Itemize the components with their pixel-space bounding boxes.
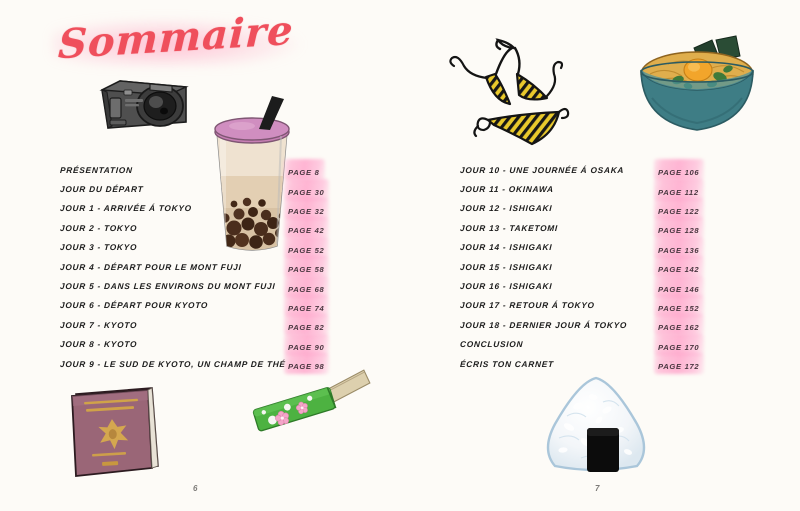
toc-page-badge: PAGE 42 [288, 218, 324, 237]
toc-page-label: PAGE 98 [288, 362, 324, 371]
toc-entry-label: JOUR 15 - ISHIGAKI [460, 262, 553, 272]
toc-page-label: PAGE 112 [658, 188, 699, 197]
toc-page-badge: PAGE 170 [658, 335, 699, 354]
toc-entry-label: PRÉSENTATION [60, 165, 133, 175]
toc-page-badge: PAGE 98 [288, 354, 324, 373]
toc-entry-label: JOUR 11 - OKINAWA [460, 184, 554, 194]
toc-entry-label: CONCLUSION [460, 339, 524, 349]
passport-illustration [62, 382, 168, 480]
toc-page-label: PAGE 74 [288, 304, 324, 313]
toc-page-label: PAGE 128 [658, 226, 699, 235]
toc-page-badge: PAGE 112 [658, 180, 699, 199]
toc-page-badge: PAGE 136 [658, 238, 699, 257]
toc-page-badge: PAGE 106 [658, 160, 699, 179]
onigiri-illustration [533, 372, 659, 482]
toc-row[interactable]: JOUR 2 - TOKYO PAGE 42 [60, 218, 360, 237]
toc-entry-label: JOUR 8 - KYOTO [60, 339, 138, 349]
toc-row[interactable]: JOUR 7 - KYOTO PAGE 82 [60, 315, 360, 334]
toc-page-label: PAGE 30 [288, 188, 324, 197]
toc-page-badge: PAGE 152 [658, 296, 699, 315]
toc-page-badge: PAGE 172 [658, 354, 699, 373]
toc-row[interactable]: JOUR DU DÉPART PAGE 30 [60, 179, 360, 198]
toc-entry-label: JOUR 9 - LE SUD DE KYOTO, UN CHAMP DE TH… [60, 359, 286, 369]
toc-entry-label: JOUR 5 - DANS LES ENVIRONS DU MONT FUJI [60, 281, 276, 291]
toc-row[interactable]: JOUR 15 - ISHIGAKI PAGE 142 [460, 257, 760, 276]
toc-page-label: PAGE 32 [288, 207, 324, 216]
toc-left-column: PRÉSENTATION PAGE 8 JOUR DU DÉPART PAGE … [60, 160, 360, 373]
toc-page-badge: PAGE 8 [288, 160, 320, 179]
toc-row[interactable]: JOUR 14 - ISHIGAKI PAGE 136 [460, 238, 760, 257]
toc-page-badge: PAGE 142 [658, 257, 699, 276]
toc-entry-label: JOUR 2 - TOKYO [60, 223, 138, 233]
toc-page-label: PAGE 106 [658, 168, 699, 177]
toc-row[interactable]: JOUR 17 - RETOUR Á TOKYO PAGE 152 [460, 296, 760, 315]
toc-entry-label: JOUR 10 - UNE JOURNÉE Á OSAKA [460, 165, 625, 175]
toc-page-badge: PAGE 162 [658, 315, 699, 334]
toc-page-label: PAGE 8 [288, 168, 320, 177]
toc-page-badge: PAGE 74 [288, 296, 324, 315]
toc-right-column: JOUR 10 - UNE JOURNÉE Á OSAKA PAGE 106 J… [460, 160, 760, 373]
toc-page-label: PAGE 90 [288, 343, 324, 352]
toc-entry-label: JOUR 7 - KYOTO [60, 320, 138, 330]
toc-row[interactable]: ÉCRIS TON CARNET PAGE 172 [460, 354, 760, 373]
toc-page-badge: PAGE 82 [288, 315, 324, 334]
toc-row[interactable]: JOUR 12 - ISHIGAKI PAGE 122 [460, 199, 760, 218]
toc-row[interactable]: JOUR 1 - ARRIVÉE Á TOKYO PAGE 32 [60, 199, 360, 218]
toc-page-badge: PAGE 32 [288, 199, 324, 218]
toc-entry-label: JOUR 1 - ARRIVÉE Á TOKYO [60, 203, 192, 213]
ramen-bowl-illustration [628, 26, 766, 138]
toc-page-label: PAGE 58 [288, 265, 324, 274]
toc-row[interactable]: JOUR 8 - KYOTO PAGE 90 [60, 335, 360, 354]
toc-page-label: PAGE 172 [658, 362, 699, 371]
toc-page-badge: PAGE 30 [288, 180, 324, 199]
toc-entry-label: JOUR 17 - RETOUR Á TOKYO [460, 300, 595, 310]
toc-page-label: PAGE 68 [288, 285, 324, 294]
toc-row[interactable]: JOUR 9 - LE SUD DE KYOTO, UN CHAMP DE TH… [60, 354, 360, 373]
toc-row[interactable]: JOUR 11 - OKINAWA PAGE 112 [460, 179, 760, 198]
toc-page-badge: PAGE 128 [658, 218, 699, 237]
toc-page-badge: PAGE 122 [658, 199, 699, 218]
toc-entry-label: JOUR DU DÉPART [60, 184, 144, 194]
toc-page-label: PAGE 136 [658, 246, 699, 255]
bikini-illustration [422, 22, 574, 150]
toc-page-badge: PAGE 52 [288, 238, 324, 257]
toc-entry-label: JOUR 14 - ISHIGAKI [460, 242, 553, 252]
toc-entry-label: ÉCRIS TON CARNET [460, 359, 554, 369]
page-title-group: Sommaire [58, 14, 318, 70]
toc-entry-label: JOUR 18 - DERNIER JOUR Á TOKYO [460, 320, 628, 330]
toc-row[interactable]: JOUR 6 - DÉPART POUR KYOTO PAGE 74 [60, 296, 360, 315]
chopsticks-illustration [246, 366, 386, 458]
folio-left: 6 [193, 484, 197, 493]
toc-entry-label: JOUR 6 - DÉPART POUR KYOTO [60, 300, 209, 310]
toc-page-label: PAGE 142 [658, 265, 699, 274]
toc-row[interactable]: JOUR 5 - DANS LES ENVIRONS DU MONT FUJI … [60, 276, 360, 295]
toc-row[interactable]: JOUR 13 - TAKETOMI PAGE 128 [460, 218, 760, 237]
toc-page-label: PAGE 122 [658, 207, 699, 216]
toc-entry-label: JOUR 13 - TAKETOMI [460, 223, 559, 233]
toc-row[interactable]: JOUR 10 - UNE JOURNÉE Á OSAKA PAGE 106 [460, 160, 760, 179]
toc-page-label: PAGE 162 [658, 323, 699, 332]
toc-entry-label: JOUR 12 - ISHIGAKI [460, 203, 553, 213]
toc-page-label: PAGE 42 [288, 226, 324, 235]
toc-row[interactable]: JOUR 3 - TOKYO PAGE 52 [60, 238, 360, 257]
toc-row[interactable]: JOUR 16 - ISHIGAKI PAGE 146 [460, 276, 760, 295]
toc-page-badge: PAGE 90 [288, 335, 324, 354]
toc-entry-label: JOUR 3 - TOKYO [60, 242, 138, 252]
toc-row[interactable]: JOUR 4 - DÉPART POUR LE MONT FUJI PAGE 5… [60, 257, 360, 276]
toc-page-label: PAGE 170 [658, 343, 699, 352]
toc-page-label: PAGE 146 [658, 285, 699, 294]
toc-page-label: PAGE 82 [288, 323, 324, 332]
toc-row[interactable]: CONCLUSION PAGE 170 [460, 335, 760, 354]
toc-page-badge: PAGE 58 [288, 257, 324, 276]
camera-illustration [98, 68, 194, 134]
folio-right: 7 [595, 484, 599, 493]
toc-page-badge: PAGE 68 [288, 277, 324, 296]
toc-entry-label: JOUR 4 - DÉPART POUR LE MONT FUJI [60, 262, 242, 272]
toc-page-badge: PAGE 146 [658, 277, 699, 296]
toc-page-label: PAGE 152 [658, 304, 699, 313]
toc-page-label: PAGE 52 [288, 246, 324, 255]
toc-row[interactable]: JOUR 18 - DERNIER JOUR Á TOKYO PAGE 162 [460, 315, 760, 334]
book-spread: Sommaire [0, 0, 800, 511]
toc-entry-label: JOUR 16 - ISHIGAKI [460, 281, 553, 291]
toc-row[interactable]: PRÉSENTATION PAGE 8 [60, 160, 360, 179]
